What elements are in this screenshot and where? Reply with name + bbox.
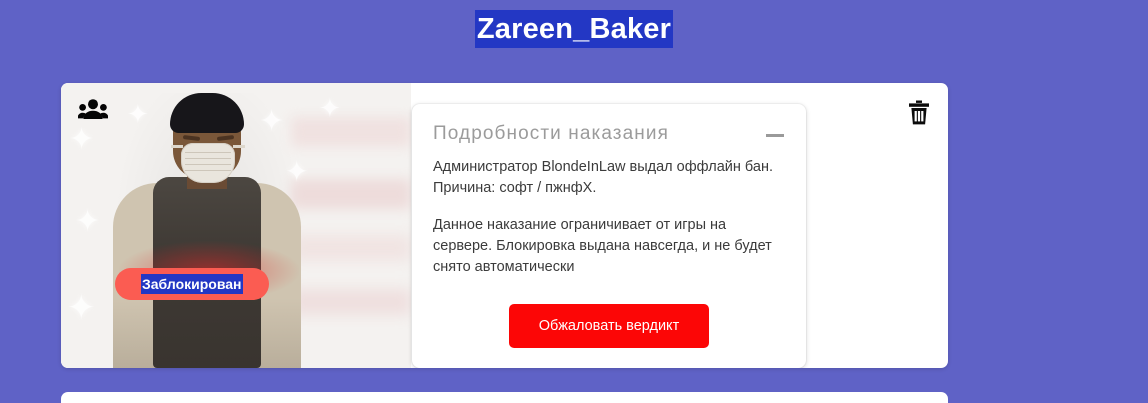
trash-icon[interactable]	[908, 100, 930, 125]
punishment-details-header: Подробности наказания	[433, 122, 785, 146]
punishment-details-title: Подробности наказания	[433, 122, 669, 146]
page-title-container: Zareen_Baker	[0, 0, 1148, 48]
status-badge-label: Заблокирован	[141, 274, 243, 294]
punishment-description-text: Данное наказание ограничивает от игры на…	[433, 215, 785, 278]
minus-icon[interactable]	[765, 124, 785, 146]
avatar: ✦ ✦ ✦ ✦ ✦ ✦ ✦ ✦ ✦	[61, 83, 411, 368]
status-badge: Заблокирован	[115, 268, 269, 300]
profile-card: ✦ ✦ ✦ ✦ ✦ ✦ ✦ ✦ ✦	[61, 83, 948, 368]
appeal-verdict-button[interactable]: Обжаловать вердикт	[509, 304, 709, 348]
punishment-details-body: Администратор BlondeInLaw выдал оффлайн …	[433, 157, 785, 278]
page-title: Zareen_Baker	[475, 10, 673, 48]
punishment-reason-text: Администратор BlondeInLaw выдал оффлайн …	[433, 157, 785, 199]
users-icon[interactable]	[78, 98, 108, 120]
next-profile-card[interactable]	[61, 392, 948, 403]
punishment-details-panel: Подробности наказания Администратор Blon…	[412, 104, 806, 368]
character-figure	[61, 83, 411, 368]
appeal-button-row: Обжаловать вердикт	[433, 304, 785, 348]
